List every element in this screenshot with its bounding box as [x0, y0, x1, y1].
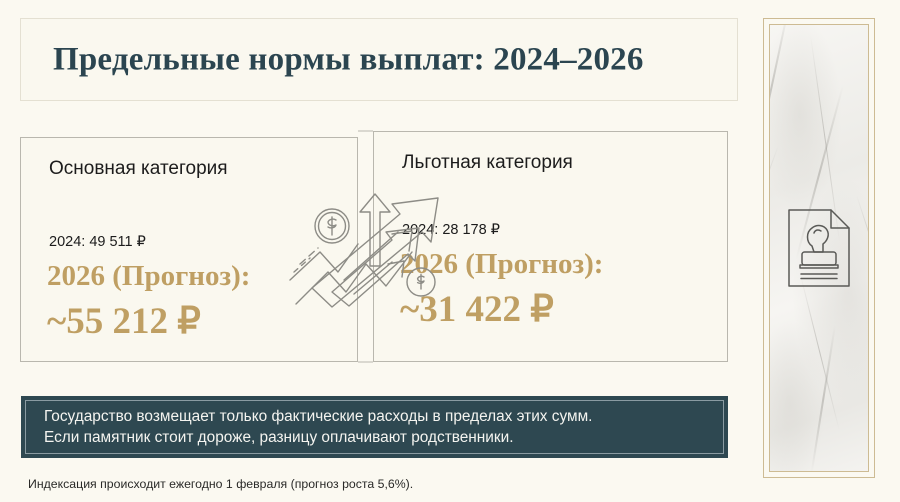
card-privileged-category: Льготная категория 2024: 28 178 ₽ 2026 (… — [373, 131, 728, 362]
footnote-text: Индексация происходит ежегодно 1 февраля… — [28, 477, 413, 491]
card-privileged-category-forecast-value: ~31 422 ₽ — [400, 287, 554, 331]
card-privileged-category-title: Льготная категория — [402, 152, 573, 174]
marble-side-panel — [763, 18, 875, 478]
page-title: Предельные нормы выплат: 2024–2026 — [53, 41, 644, 78]
callout-box: Государство возмещает только фактические… — [21, 396, 728, 458]
card-privileged-category-forecast-label: 2026 (Прогноз): — [400, 248, 603, 281]
slide-canvas: Предельные нормы выплат: 2024–2026 Основ… — [0, 0, 900, 502]
card-main-category-forecast-value: ~55 212 ₽ — [47, 299, 201, 343]
marble-texture — [769, 24, 869, 472]
title-banner: Предельные нормы выплат: 2024–2026 — [20, 18, 738, 101]
card-main-category-forecast-label: 2026 (Прогноз): — [47, 260, 250, 293]
card-main-category: Основная категория 2024: 49 511 ₽ 2026 (… — [20, 137, 358, 362]
card-main-category-baseline: 2024: 49 511 ₽ — [49, 234, 146, 250]
callout-text: Государство возмещает только фактические… — [44, 406, 592, 448]
document-with-stamp-icon — [785, 206, 853, 290]
card-privileged-category-baseline: 2024: 28 178 ₽ — [402, 222, 500, 238]
card-main-category-title: Основная категория — [49, 158, 228, 180]
